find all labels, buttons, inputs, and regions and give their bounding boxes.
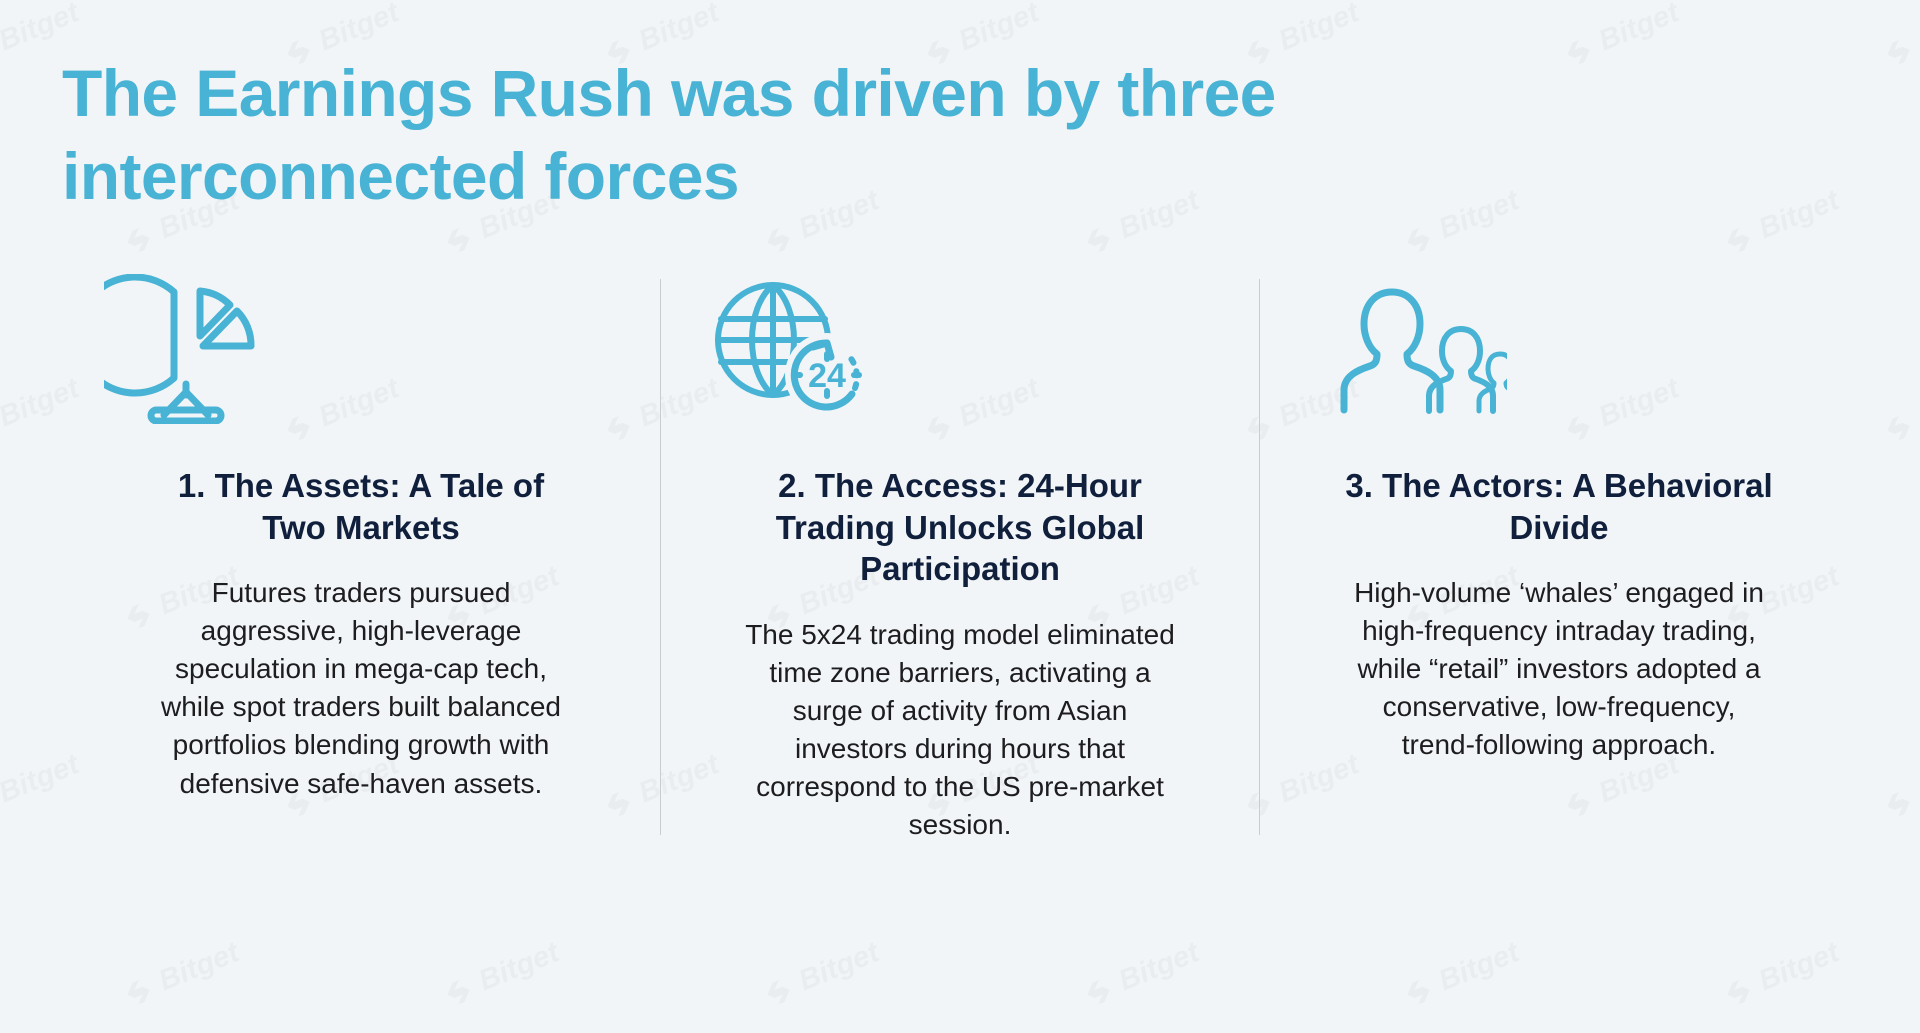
globe-24-hour-clock-icon: 24 [705, 274, 880, 424]
column-actors: 3. The Actors: A Behavioral Divide High-… [1260, 269, 1858, 844]
column-1-icon-wrap [96, 269, 626, 429]
title-block: The Earnings Rush was driven by three in… [62, 52, 1702, 217]
column-2-body: The 5x24 trading model eliminated time z… [745, 616, 1175, 844]
column-3-icon-wrap [1294, 269, 1824, 429]
clock-24-label: 24 [808, 357, 846, 395]
pie-chart-easel-icon [104, 274, 264, 424]
columns-container: 1. The Assets: A Tale of Two Markets Fut… [62, 269, 1858, 844]
column-3-heading: 3. The Actors: A Behavioral Divide [1344, 465, 1774, 548]
column-1-heading: 1. The Assets: A Tale of Two Markets [146, 465, 576, 548]
column-2-icon-wrap: 24 [695, 269, 1225, 429]
column-1-body: Futures traders pursued aggressive, high… [151, 574, 571, 802]
column-access: 24 2. The Access: 24-Hour Trading Unlock… [661, 269, 1259, 844]
column-3-body: High-volume ‘whales’ engaged in high-fre… [1354, 574, 1764, 764]
infographic-page: The Earnings Rush was driven by three in… [0, 0, 1920, 1033]
column-2-heading: 2. The Access: 24-Hour Trading Unlocks G… [745, 465, 1175, 590]
column-assets: 1. The Assets: A Tale of Two Markets Fut… [62, 269, 660, 844]
people-group-icon [1332, 274, 1507, 424]
page-title: The Earnings Rush was driven by three in… [62, 52, 1702, 217]
